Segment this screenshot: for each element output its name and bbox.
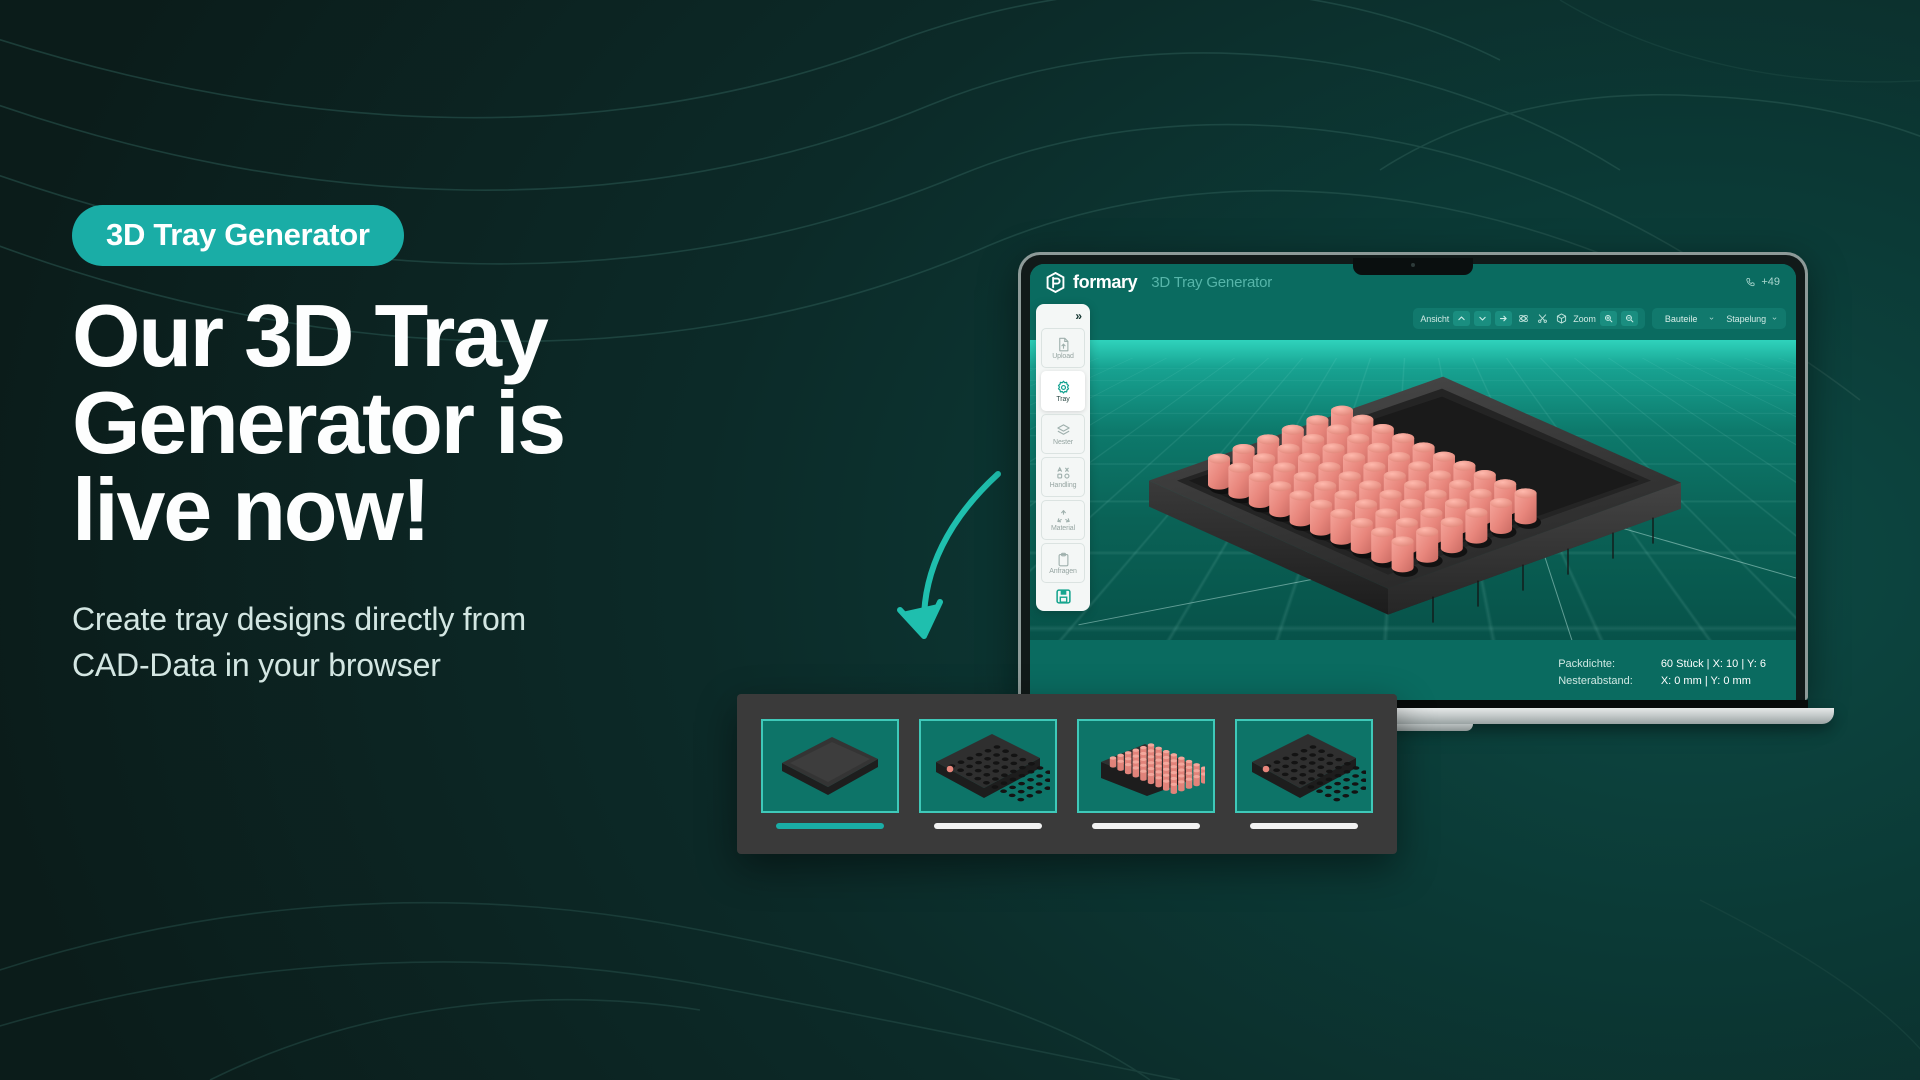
laptop-lid: formary 3D Tray Generator +49 » [1018,252,1808,700]
arrow-right-icon [1499,314,1508,323]
thumb-blank-tray[interactable] [761,719,899,829]
tray-gear-icon [1056,380,1071,395]
chevron-down-icon[interactable] [1707,314,1716,323]
app-subtitle: 3D Tray Generator [1151,274,1272,291]
thumb-progress-bar[interactable] [1092,823,1200,829]
zoom-out-icon [1625,314,1634,323]
thumb-image [1235,719,1373,813]
thumb-formed-tray-2[interactable] [1235,719,1373,829]
thumb-progress-bar[interactable] [776,823,884,829]
orbit-icon [1518,313,1529,324]
viewer-infobar: Packdichte: 60 Stück | X: 10 | Y: 6 Nest… [1030,644,1796,700]
viewer-toolbar: Ansicht [1126,308,1786,329]
thumb-image [919,719,1057,813]
info-table: Packdichte: 60 Stück | X: 10 | Y: 6 Nest… [1558,658,1766,687]
sidebar-label: Nester [1053,439,1073,446]
orbit-button[interactable] [1516,311,1531,326]
toolbar-view-group: Ansicht [1413,308,1644,329]
sidebar-item-anfragen[interactable]: Anfragen [1041,543,1085,583]
3d-viewport[interactable] [1030,340,1796,640]
chevron-down-icon[interactable] [1770,314,1779,323]
view-down-button[interactable] [1474,311,1491,326]
sidebar-expand-button[interactable]: » [1075,308,1085,325]
header-contact[interactable]: +49 [1745,276,1780,288]
toolbar-parts-group: Bauteile Stapelung [1652,308,1786,329]
sidebar-item-upload[interactable]: Upload [1041,328,1085,368]
sidebar-item-nester[interactable]: Nester [1041,414,1085,454]
sidebar-label: Tray [1056,396,1069,403]
phone-icon [1745,277,1756,288]
chevron-up-icon [1457,314,1466,323]
view-next-button[interactable] [1495,311,1512,326]
thumb-progress-bar[interactable] [1250,823,1358,829]
sidebar-label: Material [1051,525,1075,532]
sidebar-label: Handling [1050,482,1077,489]
dropdown-stapelung[interactable]: Stapelung [1726,314,1766,324]
scissors-icon [1537,313,1548,324]
page-title: Our 3D Tray Generator is live now! [72,292,672,553]
box-button[interactable] [1554,311,1569,326]
laptop-mockup: formary 3D Tray Generator +49 » [1018,252,1808,724]
clipboard-icon [1056,552,1071,567]
sidebar-item-material[interactable]: Material [1041,500,1085,540]
sidebar-label: Upload [1052,353,1074,360]
sidebar-label: Anfragen [1049,568,1077,575]
zoom-in-icon [1604,314,1613,323]
thumb-progress-bar[interactable] [934,823,1042,829]
toolbar-view-label: Ansicht [1420,314,1449,324]
thumb-formed-tray[interactable] [919,719,1057,829]
hero-section: 3D Tray Generator Our 3D Tray Generator … [72,205,752,688]
filled-tray-preview-icon [1087,724,1205,808]
thumb-filled-tray[interactable] [1077,719,1215,829]
info-value: X: 0 mm | Y: 0 mm [1661,675,1766,687]
cut-button[interactable] [1535,311,1550,326]
app-sidebar: » Upload Tray [1036,304,1090,611]
dropdown-bauteile[interactable]: Bauteile [1659,312,1704,326]
thumbnail-carousel [737,694,1397,854]
info-key: Packdichte: [1558,658,1633,670]
hero-badge: 3D Tray Generator [72,205,404,266]
info-key: Nesterabstand: [1558,675,1633,687]
thumb-image [1077,719,1215,813]
view-up-button[interactable] [1453,311,1470,326]
sidebar-item-tray[interactable]: Tray [1041,371,1085,411]
laptop-notch [1353,258,1473,275]
curved-arrow-icon [880,460,1040,660]
formary-hex-icon [1046,272,1065,293]
toolbar-zoom-label: Zoom [1573,314,1596,324]
layers-icon [1056,423,1071,438]
laptop-screen: formary 3D Tray Generator +49 » [1030,264,1796,700]
file-upload-icon [1056,337,1071,352]
zoom-in-button[interactable] [1600,311,1617,326]
save-disk-icon[interactable] [1055,588,1072,605]
formed-tray-preview-2-icon [1242,724,1366,808]
brand-logo[interactable]: formary [1046,272,1137,293]
recycle-icon [1056,509,1071,524]
sidebar-item-handling[interactable]: Handling [1041,457,1085,497]
thumb-image [761,719,899,813]
tray-3d-model[interactable] [1133,357,1693,640]
brand-name: formary [1073,272,1137,293]
zoom-out-button[interactable] [1621,311,1638,326]
formed-tray-preview-icon [926,724,1050,808]
info-value: 60 Stück | X: 10 | Y: 6 [1661,658,1766,670]
chevron-down-icon [1478,314,1487,323]
hero-subcopy: Create tray designs directly from CAD-Da… [72,597,582,688]
phone-number: +49 [1761,276,1780,288]
handling-grid-icon [1056,466,1071,481]
cube-icon [1556,313,1567,324]
blank-tray-preview-icon [770,725,890,807]
